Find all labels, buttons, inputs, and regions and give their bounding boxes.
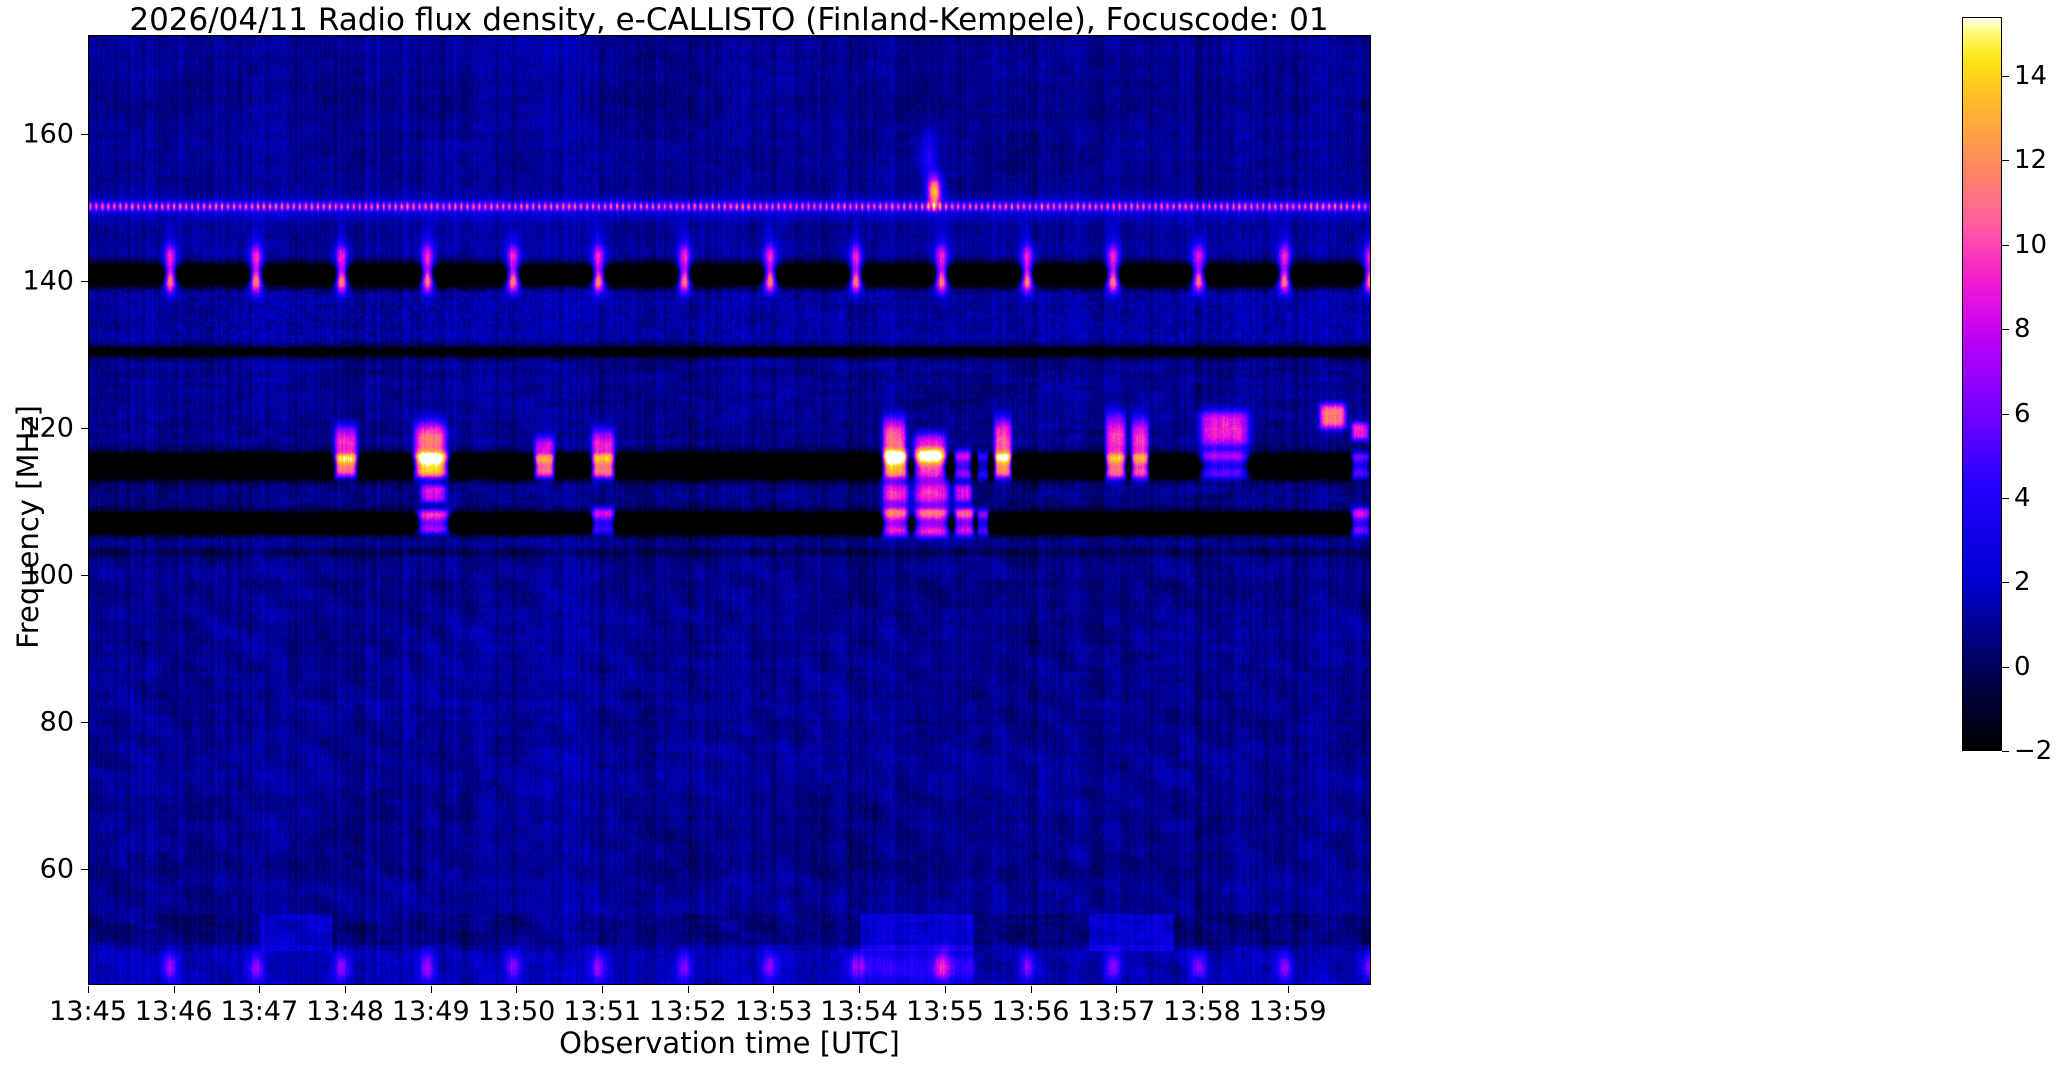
spectrogram-axes: [88, 35, 1371, 985]
x-tick-mark: [516, 986, 517, 993]
colorbar-tick-mark: [2002, 498, 2009, 499]
colorbar-tick-mark: [2002, 160, 2009, 161]
colorbar-tick-label: 14: [2014, 61, 2047, 91]
x-tick-label: 13:49: [392, 996, 470, 1027]
x-tick-mark: [602, 986, 603, 993]
x-tick-label: 13:55: [906, 996, 984, 1027]
x-tick-mark: [88, 986, 89, 993]
x-tick-label: 13:46: [135, 996, 213, 1027]
x-tick-mark: [945, 986, 946, 993]
colorbar-tick-label: 10: [2014, 230, 2047, 260]
colorbar-tick-mark: [2002, 414, 2009, 415]
x-tick-label: 13:47: [220, 996, 298, 1027]
x-tick-label: 13:54: [820, 996, 898, 1027]
x-tick-mark: [259, 986, 260, 993]
colorbar-tick-mark: [2002, 582, 2009, 583]
y-tick-mark: [81, 428, 88, 429]
y-tick-label: 160: [4, 119, 74, 150]
x-tick-mark: [1116, 986, 1117, 993]
x-tick-label: 13:48: [306, 996, 384, 1027]
x-tick-label: 13:59: [1249, 996, 1327, 1027]
colorbar-tick-label: 12: [2014, 145, 2047, 175]
colorbar-tick-mark: [2002, 329, 2009, 330]
colorbar-tick-mark: [2002, 245, 2009, 246]
colorbar-tick-mark: [2002, 667, 2009, 668]
page-title: 2026/04/11 Radio flux density, e-CALLIST…: [88, 2, 1370, 38]
x-tick-mark: [1031, 986, 1032, 993]
x-tick-label: 13:52: [649, 996, 727, 1027]
y-tick-mark: [81, 722, 88, 723]
y-tick-mark: [81, 134, 88, 135]
colorbar-tick-mark: [2002, 76, 2009, 77]
x-tick-mark: [174, 986, 175, 993]
figure-root: 2026/04/11 Radio flux density, e-CALLIST…: [0, 0, 2066, 1067]
x-tick-mark: [1202, 986, 1203, 993]
colorbar-gradient: [1962, 17, 2002, 751]
x-tick-mark: [1288, 986, 1289, 993]
x-tick-mark: [773, 986, 774, 993]
colorbar-tick-label: 2: [2014, 567, 2031, 597]
x-axis-label: Observation time [UTC]: [88, 1026, 1371, 1060]
x-tick-label: 13:58: [1163, 996, 1241, 1027]
y-tick-label: 60: [4, 854, 74, 885]
x-tick-label: 13:51: [563, 996, 641, 1027]
colorbar-tick-label: 0: [2014, 652, 2031, 682]
y-tick-mark: [81, 575, 88, 576]
x-tick-label: 13:56: [992, 996, 1070, 1027]
y-tick-mark: [81, 281, 88, 282]
x-tick-label: 13:50: [478, 996, 556, 1027]
y-axis-label: Frequency [MHz]: [11, 267, 45, 787]
colorbar-tick-label: 6: [2014, 399, 2031, 429]
x-tick-mark: [345, 986, 346, 993]
x-tick-label: 13:45: [49, 996, 127, 1027]
colorbar-tick-label: −2: [2014, 736, 2052, 766]
y-tick-mark: [81, 869, 88, 870]
x-tick-label: 13:53: [735, 996, 813, 1027]
colorbar-tick-mark: [2002, 751, 2009, 752]
x-tick-mark: [688, 986, 689, 993]
spectrogram-heatmap: [89, 36, 1370, 984]
colorbar-tick-label: 8: [2014, 314, 2031, 344]
colorbar-tick-label: 4: [2014, 483, 2031, 513]
colorbar-container: 14121086420−2: [1962, 17, 2002, 751]
x-tick-label: 13:57: [1077, 996, 1155, 1027]
x-tick-mark: [431, 986, 432, 993]
x-tick-mark: [859, 986, 860, 993]
